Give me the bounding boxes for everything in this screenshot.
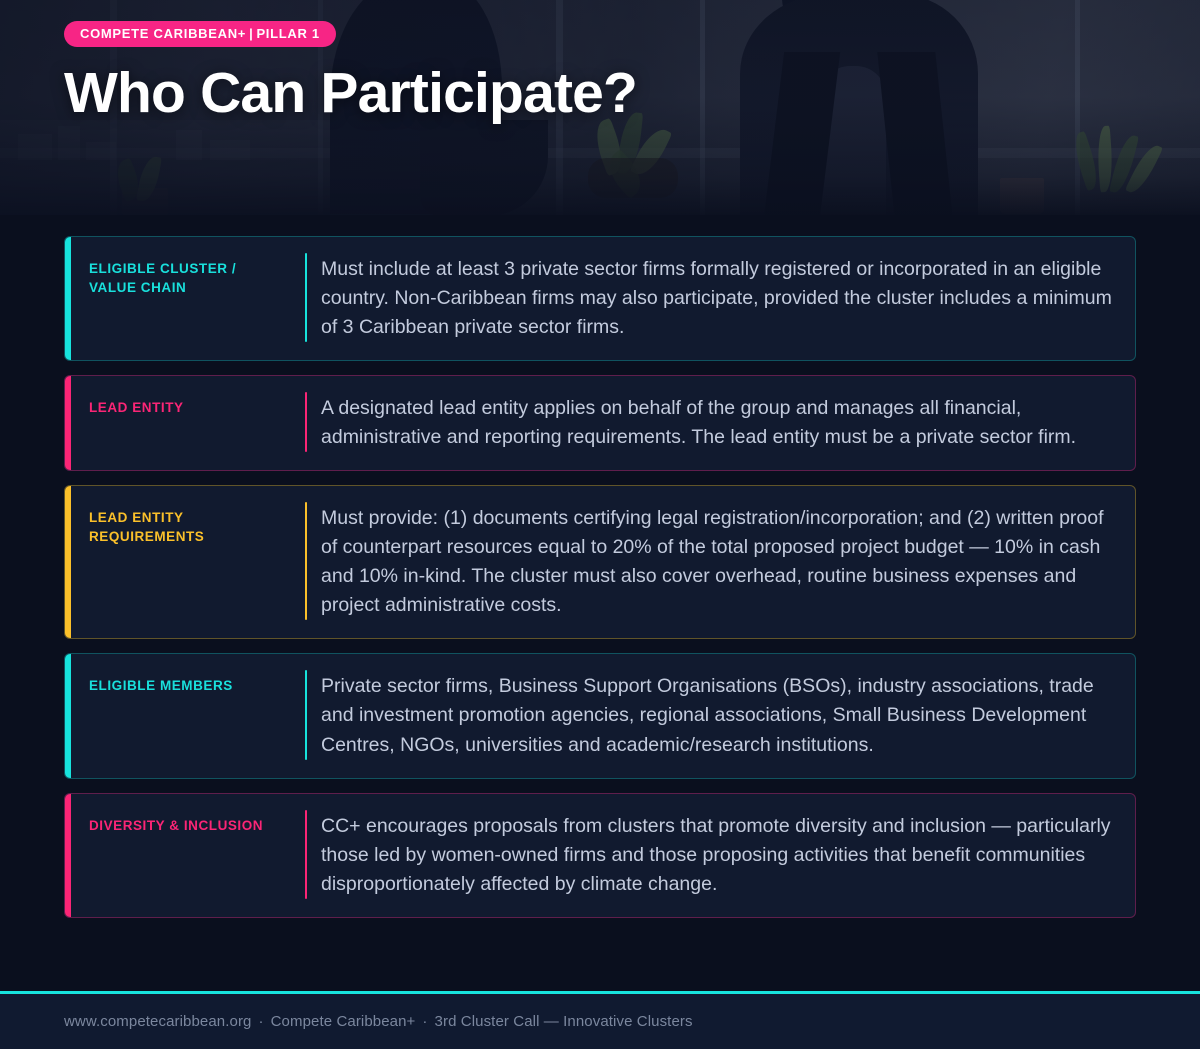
card-divider <box>305 253 307 342</box>
criteria-card: ELIGIBLE MEMBERS Private sector firms, B… <box>64 653 1136 778</box>
hero-banner: COMPETE CARIBBEAN+|PILLAR 1 Who Can Part… <box>0 0 1200 215</box>
card-label: DIVERSITY & INCLUSION <box>65 794 305 917</box>
card-text: CC+ encourages proposals from clusters t… <box>321 810 1113 899</box>
criteria-card: ELIGIBLE CLUSTER / VALUE CHAIN Must incl… <box>64 236 1136 361</box>
slide-root: COMPETE CARIBBEAN+|PILLAR 1 Who Can Part… <box>0 0 1200 1049</box>
card-text: A designated lead entity applies on beha… <box>321 392 1113 452</box>
card-text: Must include at least 3 private sector f… <box>321 253 1113 342</box>
card-accent-bar <box>65 486 71 638</box>
badge-separator: | <box>246 26 256 41</box>
footer-text: www.competecaribbean.org·Compete Caribbe… <box>64 1013 693 1030</box>
pillar-badge: COMPETE CARIBBEAN+|PILLAR 1 <box>64 21 336 47</box>
card-body: Private sector firms, Business Support O… <box>305 654 1135 777</box>
criteria-card: DIVERSITY & INCLUSION CC+ encourages pro… <box>64 793 1136 918</box>
card-divider <box>305 392 307 452</box>
card-body: CC+ encourages proposals from clusters t… <box>305 794 1135 917</box>
card-accent-bar <box>65 654 71 777</box>
footer-website[interactable]: www.competecaribbean.org <box>64 1013 252 1030</box>
footer-dot: · <box>415 1013 434 1030</box>
footer-dot: · <box>252 1013 271 1030</box>
card-divider <box>305 670 307 759</box>
card-accent-bar <box>65 376 71 470</box>
footer-org: Compete Caribbean+ <box>271 1013 416 1030</box>
badge-primary-label: COMPETE CARIBBEAN+ <box>80 26 246 41</box>
card-body: Must include at least 3 private sector f… <box>305 237 1135 360</box>
card-label: ELIGIBLE MEMBERS <box>65 654 305 777</box>
hero-content: COMPETE CARIBBEAN+|PILLAR 1 Who Can Part… <box>64 21 637 124</box>
card-divider <box>305 502 307 620</box>
criteria-card: LEAD ENTITY A designated lead entity app… <box>64 375 1136 471</box>
card-body: Must provide: (1) documents certifying l… <box>305 486 1135 638</box>
criteria-card: LEAD ENTITY REQUIREMENTS Must provide: (… <box>64 485 1136 639</box>
card-accent-bar <box>65 237 71 360</box>
badge-secondary-label: PILLAR 1 <box>256 26 319 41</box>
card-text: Must provide: (1) documents certifying l… <box>321 502 1113 620</box>
card-label: LEAD ENTITY REQUIREMENTS <box>65 486 305 638</box>
card-accent-bar <box>65 794 71 917</box>
page-title: Who Can Participate? <box>64 64 637 124</box>
footer-context: 3rd Cluster Call — Innovative Clusters <box>435 1013 693 1030</box>
card-label: LEAD ENTITY <box>65 376 305 470</box>
card-body: A designated lead entity applies on beha… <box>305 376 1135 470</box>
card-text: Private sector firms, Business Support O… <box>321 670 1113 759</box>
footer-bar: www.competecaribbean.org·Compete Caribbe… <box>0 991 1200 1049</box>
card-label: ELIGIBLE CLUSTER / VALUE CHAIN <box>65 237 305 360</box>
card-divider <box>305 810 307 899</box>
criteria-card-list: ELIGIBLE CLUSTER / VALUE CHAIN Must incl… <box>0 215 1200 991</box>
